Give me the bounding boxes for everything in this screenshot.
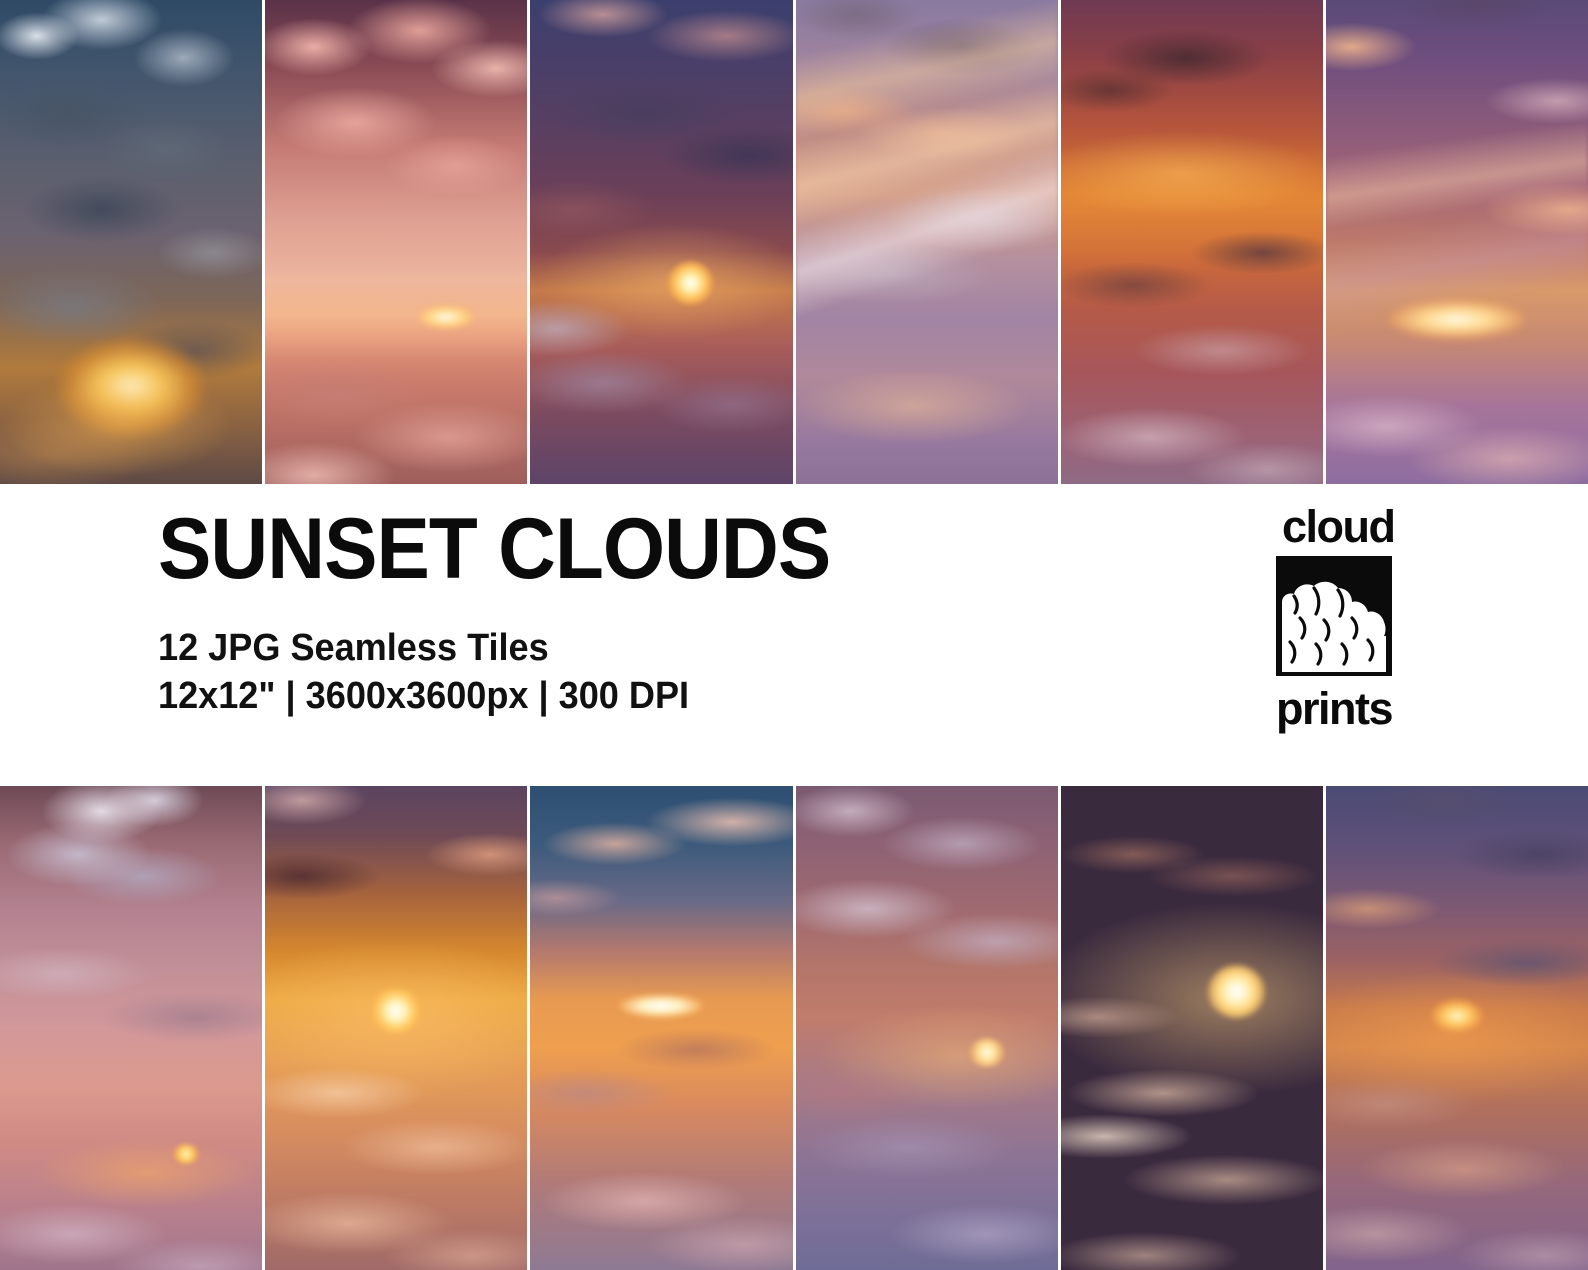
cloud-tile-12[interactable] [1326, 786, 1588, 1270]
cloud-tile-row-bottom [0, 786, 1588, 1270]
product-info-band: SUNSET CLOUDS 12 JPG Seamless Tiles 12x1… [0, 484, 1588, 786]
tile-7-sun [173, 1144, 199, 1163]
cloud-square-icon [1276, 556, 1392, 676]
brand-logo[interactable]: cloud [1276, 504, 1406, 734]
cloud-tile-3[interactable] [530, 0, 792, 484]
cloud-tile-7[interactable] [0, 786, 262, 1270]
tile-2-sun-glow [417, 305, 475, 329]
cloud-tile-4[interactable] [796, 0, 1058, 484]
tile-2-haze [265, 0, 527, 484]
tile-4-haze [796, 0, 1058, 484]
tile-12-sun-glow [1431, 999, 1483, 1033]
title-block: SUNSET CLOUDS [158, 506, 881, 592]
spec-line-file-count: 12 JPG Seamless Tiles [158, 624, 549, 673]
tile-6-clouds [1326, 0, 1588, 484]
tile-1-haze [0, 0, 262, 484]
cloud-tile-row-top [0, 0, 1588, 484]
tile-3-sun-orb [667, 261, 714, 305]
tile-7-haze [0, 786, 262, 1270]
cloud-tile-5[interactable] [1061, 0, 1323, 484]
tile-9-clouds [530, 786, 792, 1270]
cloud-tile-1[interactable] [0, 0, 262, 484]
tile-11-clouds [1061, 786, 1323, 1270]
tile-10-clouds [796, 786, 1058, 1270]
cloud-tile-11[interactable] [1061, 786, 1323, 1270]
product-listing-image: SUNSET CLOUDS 12 JPG Seamless Tiles 12x1… [0, 0, 1588, 1270]
cloud-tile-8[interactable] [265, 786, 527, 1270]
page-title: SUNSET CLOUDS [158, 506, 830, 592]
cloud-tile-9[interactable] [530, 786, 792, 1270]
cloud-tile-6[interactable] [1326, 0, 1588, 484]
cloud-tile-10[interactable] [796, 786, 1058, 1270]
tile-8-sun [370, 989, 422, 1033]
tile-3-haze [530, 0, 792, 484]
spec-line-dimensions: 12x12" | 3600x3600px | 300 DPI [158, 672, 689, 721]
tile-11-sun-disc [1208, 965, 1266, 1018]
cloud-tile-2[interactable] [265, 0, 527, 484]
tile-10-sun [969, 1038, 1006, 1067]
brand-name-bottom: prints [1276, 686, 1392, 731]
tile-5-clouds [1061, 0, 1323, 484]
brand-name-top: cloud [1282, 504, 1395, 549]
